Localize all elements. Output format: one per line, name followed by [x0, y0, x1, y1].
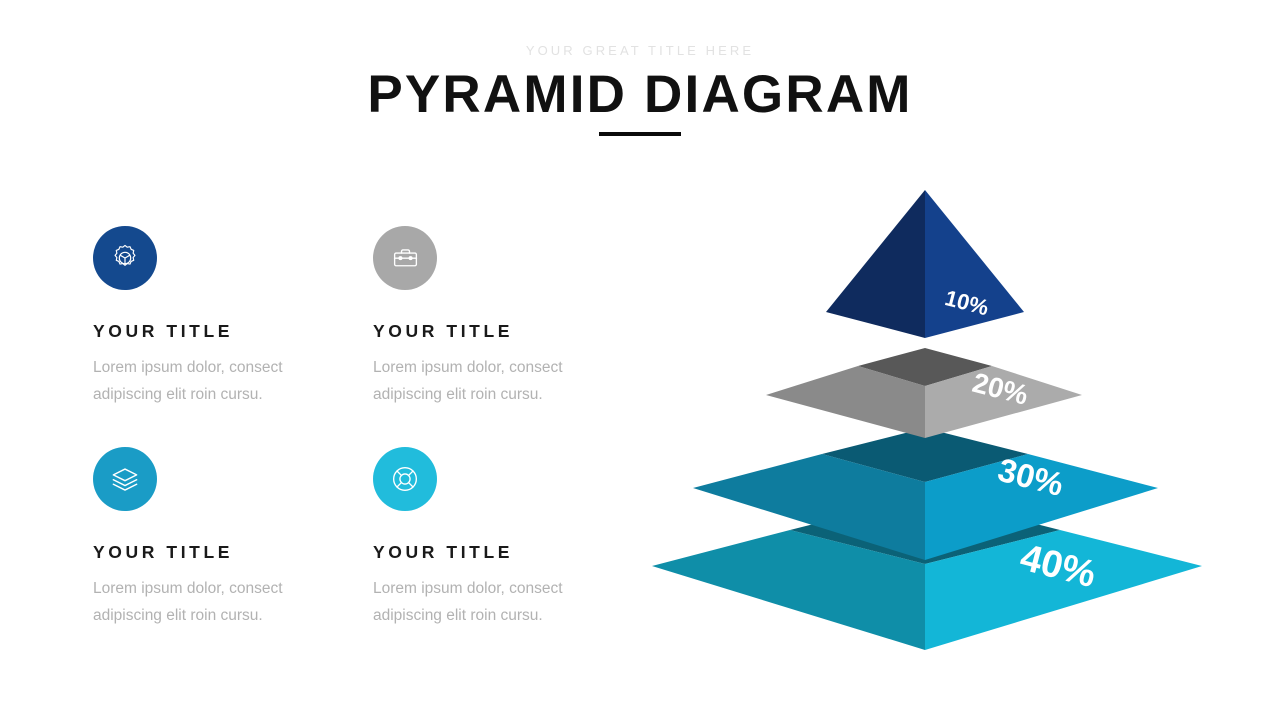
feature-icon-wrapper-1[interactable] — [93, 226, 157, 290]
layers-stack-icon — [110, 464, 140, 494]
title-underline-divider — [599, 132, 681, 136]
page-eyebrow: Your Great Title Here — [0, 42, 1280, 60]
briefcase-icon — [391, 244, 420, 273]
feature-title-2: Your Title — [373, 321, 638, 341]
feature-item-2[interactable]: Your Title Lorem ipsum dolor, consect ad… — [373, 226, 638, 408]
pyramid-tier-1-left-face — [826, 190, 925, 338]
feature-icon-wrapper-2[interactable] — [373, 226, 437, 290]
pyramid-tier-1[interactable]: 10% — [826, 190, 1024, 338]
feature-icon-wrapper-3[interactable] — [93, 447, 157, 511]
feature-title-1: Your Title — [93, 321, 358, 341]
feature-title-4: Your Title — [373, 542, 638, 562]
feature-description-3: Lorem ipsum dolor, consect adipiscing el… — [93, 575, 325, 629]
feature-description-2: Lorem ipsum dolor, consect adipiscing el… — [373, 354, 605, 408]
feature-item-3[interactable]: Your Title Lorem ipsum dolor, consect ad… — [93, 447, 358, 629]
feature-item-1[interactable]: Your Title Lorem ipsum dolor, consect ad… — [93, 226, 358, 408]
pyramid-tier-2[interactable]: 20% — [766, 348, 1082, 438]
pyramid-svg: 40% 30% 20% 10% — [630, 180, 1230, 680]
feature-description-4: Lorem ipsum dolor, consect adipiscing el… — [373, 575, 605, 629]
feature-description-1: Lorem ipsum dolor, consect adipiscing el… — [93, 354, 325, 408]
page-title: Pyramid Diagram — [0, 66, 1280, 124]
page-header: Your Great Title Here Pyramid Diagram — [0, 42, 1280, 136]
feature-item-4[interactable]: Your Title Lorem ipsum dolor, consect ad… — [373, 447, 638, 629]
pyramid-diagram: 40% 30% 20% 10% — [630, 180, 1230, 680]
feature-grid: Your Title Lorem ipsum dolor, consect ad… — [93, 226, 633, 629]
feature-title-3: Your Title — [93, 542, 358, 562]
lifebuoy-support-icon — [390, 464, 420, 494]
settings-gear-icon — [110, 243, 140, 273]
feature-icon-wrapper-4[interactable] — [373, 447, 437, 511]
